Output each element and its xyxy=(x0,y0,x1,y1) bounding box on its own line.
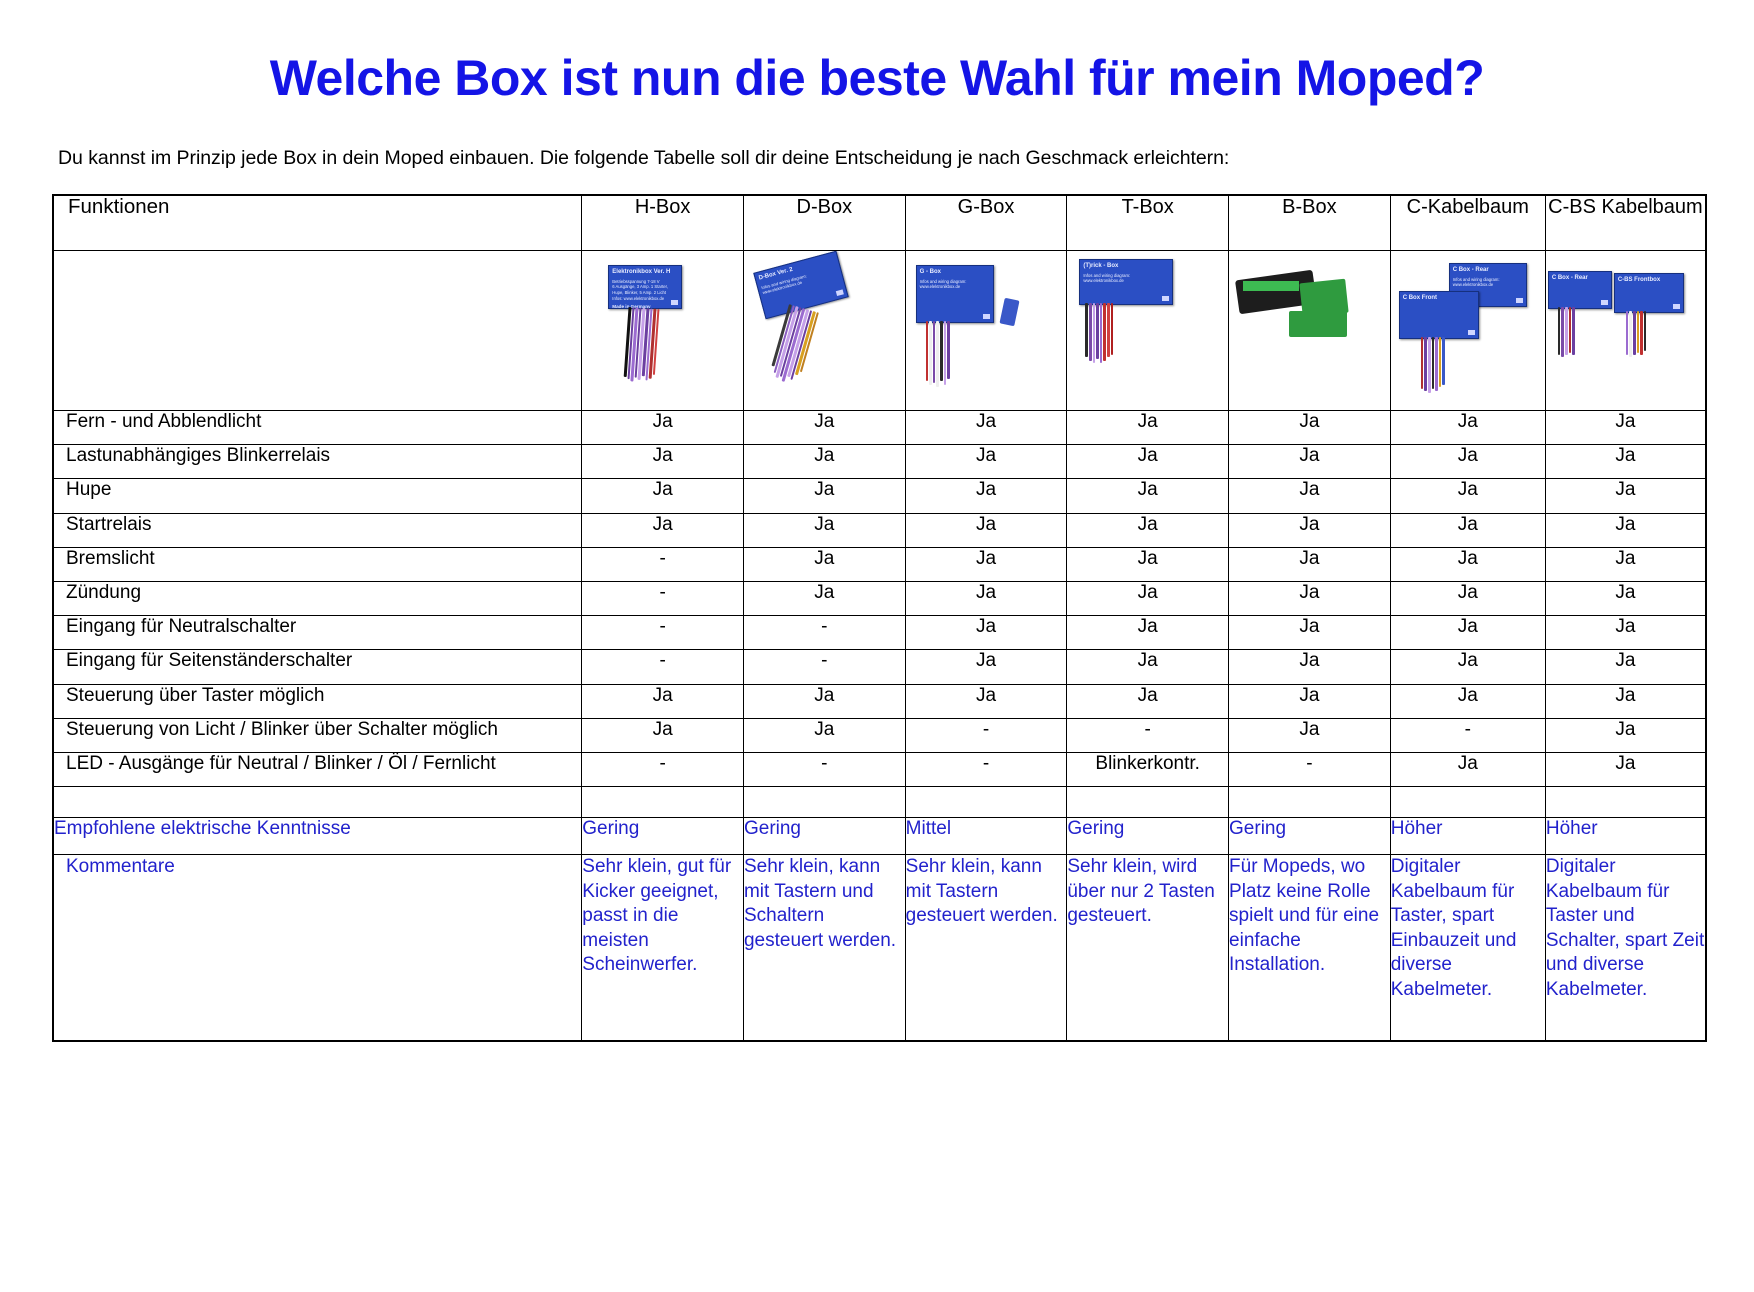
cell-value: Ja xyxy=(905,684,1067,718)
product-image-cell-b-box xyxy=(1229,251,1391,411)
table-row: Startrelais Ja Ja Ja Ja Ja Ja Ja xyxy=(53,513,1706,547)
column-header-c-kabelbaum: C-Kabelbaum xyxy=(1390,195,1545,251)
cell-value: Ja xyxy=(1067,547,1229,581)
cell-value: Ja xyxy=(1545,411,1706,445)
c-bs-front-board: C-BS Frontbox xyxy=(1614,273,1684,313)
ce-mark-icon xyxy=(983,314,990,319)
table-row: Steuerung über Taster möglich Ja Ja Ja J… xyxy=(53,684,1706,718)
h-box-photo: Elektronikbox Ver. H Betriebsspannung 7-… xyxy=(582,251,743,401)
cell-value: Ja xyxy=(1390,445,1545,479)
table-header-row: Funktionen H-Box D-Box G-Box T-Box B-Box… xyxy=(53,195,1706,251)
column-header-b-box: B-Box xyxy=(1229,195,1391,251)
cell-value: Ja xyxy=(905,650,1067,684)
c-kabelbaum-wires xyxy=(1421,337,1445,393)
spacer-cell xyxy=(1545,787,1706,818)
cell-value: Ja xyxy=(1229,513,1391,547)
cell-value: - xyxy=(1390,718,1545,752)
cell-value: Ja xyxy=(905,445,1067,479)
feature-label: Zündung xyxy=(53,581,582,615)
cell-value: Ja xyxy=(743,547,905,581)
cell-value: - xyxy=(905,752,1067,786)
t-box-board-caption: Infos and wiring diagram: www.elektronik… xyxy=(1083,273,1130,284)
table-row: Zündung - Ja Ja Ja Ja Ja Ja xyxy=(53,581,1706,615)
table-row: Lastunabhängiges Blinkerrelais Ja Ja Ja … xyxy=(53,445,1706,479)
comment-value: Sehr klein, kann mit Tastern und Schalte… xyxy=(743,855,905,1041)
table-row: Fern - und Abblendlicht Ja Ja Ja Ja Ja J… xyxy=(53,411,1706,445)
cell-value: Ja xyxy=(905,479,1067,513)
cell-value: Ja xyxy=(1545,445,1706,479)
spacer-cell xyxy=(582,787,744,818)
spacer-cell xyxy=(53,787,582,818)
cell-value: Ja xyxy=(1067,479,1229,513)
spacer-cell xyxy=(1390,787,1545,818)
b-box-terminal-strip xyxy=(1243,281,1299,291)
column-header-d-box: D-Box xyxy=(743,195,905,251)
cell-value: - xyxy=(582,752,744,786)
table-row: Steuerung von Licht / Blinker über Schal… xyxy=(53,718,1706,752)
page-title: Welche Box ist nun die beste Wahl für me… xyxy=(0,52,1754,105)
feature-label: LED - Ausgänge für Neutral / Blinker / Ö… xyxy=(53,752,582,786)
cell-value: Ja xyxy=(1390,684,1545,718)
h-box-board: Elektronikbox Ver. H Betriebsspannung 7-… xyxy=(608,265,682,309)
page-root: Welche Box ist nun die beste Wahl für me… xyxy=(0,52,1754,1292)
cell-value: Ja xyxy=(1390,616,1545,650)
spacer-cell xyxy=(905,787,1067,818)
comments-row: Kommentare Sehr klein, gut für Kicker ge… xyxy=(53,855,1706,1041)
c-bs-kabelbaum-photo: C Box - Rear C-BS Frontbox xyxy=(1546,251,1705,401)
comment-value: Sehr klein, gut für Kicker geeignet, pas… xyxy=(582,855,744,1041)
cell-value: Ja xyxy=(582,445,744,479)
ce-mark-icon xyxy=(836,289,844,296)
cell-value: Ja xyxy=(1390,479,1545,513)
cell-value: Ja xyxy=(1067,650,1229,684)
cell-value: Ja xyxy=(1229,411,1391,445)
cell-value: Ja xyxy=(743,718,905,752)
c-box-rear-label: C Box - Rear xyxy=(1453,267,1523,275)
intro-paragraph: Du kannst im Prinzip jede Box in dein Mo… xyxy=(58,147,1754,170)
cell-value: Ja xyxy=(1390,411,1545,445)
cell-value: Ja xyxy=(1229,718,1391,752)
t-box-wires xyxy=(1085,303,1113,365)
cell-value: Ja xyxy=(743,411,905,445)
spacer-cell xyxy=(1067,787,1229,818)
product-image-cell-c-bs-kabelbaum: C Box - Rear C-BS Frontbox xyxy=(1545,251,1706,411)
column-header-h-box: H-Box xyxy=(582,195,744,251)
feature-label: Fern - und Abblendlicht xyxy=(53,411,582,445)
product-image-row: Elektronikbox Ver. H Betriebsspannung 7-… xyxy=(53,251,1706,411)
cell-value: Ja xyxy=(1545,752,1706,786)
cell-value: Ja xyxy=(743,513,905,547)
cell-value: Ja xyxy=(1545,479,1706,513)
ce-mark-icon xyxy=(1162,296,1169,301)
c-box-front-label: C Box Front xyxy=(1403,295,1475,303)
product-image-cell-empty xyxy=(53,251,582,411)
cell-value: - xyxy=(743,752,905,786)
comparison-table: Funktionen H-Box D-Box G-Box T-Box B-Box… xyxy=(52,194,1707,1042)
cell-value: Ja xyxy=(1545,616,1706,650)
cell-value: Ja xyxy=(1229,479,1391,513)
ce-mark-icon xyxy=(1468,330,1475,335)
g-box-wires xyxy=(926,321,950,387)
table-row: Bremslicht - Ja Ja Ja Ja Ja Ja xyxy=(53,547,1706,581)
g-box-photo: G - Box Infos and wiring diagram: www.el… xyxy=(906,251,1067,401)
cell-value: Ja xyxy=(1390,752,1545,786)
cell-value: Ja xyxy=(1545,581,1706,615)
comment-value: Sehr klein, kann mit Tastern gesteuert w… xyxy=(905,855,1067,1041)
column-header-t-box: T-Box xyxy=(1067,195,1229,251)
skills-value: Höher xyxy=(1545,818,1706,855)
c-box-front-board: C Box Front xyxy=(1399,291,1479,339)
feature-label: Eingang für Seitenständerschalter xyxy=(53,650,582,684)
d-box-photo: D-Box Ver. 2 Infos and wiring diagram: w… xyxy=(744,251,905,401)
cell-value: Ja xyxy=(905,547,1067,581)
cell-value: Ja xyxy=(1229,684,1391,718)
skills-label: Empfohlene elektrische Kenntnisse xyxy=(53,818,582,855)
cell-value: Ja xyxy=(1067,513,1229,547)
cell-value: Ja xyxy=(743,684,905,718)
cell-value: Ja xyxy=(1229,650,1391,684)
cell-value: Ja xyxy=(1545,718,1706,752)
table-row: Eingang für Neutralschalter - - Ja Ja Ja… xyxy=(53,616,1706,650)
skills-value: Mittel xyxy=(905,818,1067,855)
product-image-cell-g-box: G - Box Infos and wiring diagram: www.el… xyxy=(905,251,1067,411)
cell-value: Ja xyxy=(1390,513,1545,547)
spacer-row xyxy=(53,787,1706,818)
cell-value: - xyxy=(1067,718,1229,752)
comment-value: Digitaler Kabelbaum für Taster und Schal… xyxy=(1545,855,1706,1041)
c-bs-rear-board: C Box - Rear xyxy=(1548,271,1612,309)
cell-value: - xyxy=(582,616,744,650)
ce-mark-icon xyxy=(1601,300,1608,305)
cell-value: - xyxy=(905,718,1067,752)
feature-label: Hupe xyxy=(53,479,582,513)
b-box-photo xyxy=(1229,251,1390,401)
feature-label: Lastunabhängiges Blinkerrelais xyxy=(53,445,582,479)
skills-value: Gering xyxy=(1067,818,1229,855)
h-box-board-label: Elektronikbox Ver. H xyxy=(612,269,678,277)
cell-value: - xyxy=(582,581,744,615)
cell-value: Ja xyxy=(1229,445,1391,479)
cell-value: Ja xyxy=(743,445,905,479)
cell-value: Ja xyxy=(1229,616,1391,650)
cell-value: - xyxy=(582,650,744,684)
spacer-cell xyxy=(1229,787,1391,818)
c-bs-wires-left xyxy=(1558,307,1575,359)
c-bs-front-label: C-BS Frontbox xyxy=(1618,277,1680,285)
skills-value: Gering xyxy=(743,818,905,855)
ce-mark-icon xyxy=(671,300,678,305)
cell-value: Ja xyxy=(582,718,744,752)
product-image-cell-t-box: (T)rick - Box Infos and wiring diagram: … xyxy=(1067,251,1229,411)
feature-label: Bremslicht xyxy=(53,547,582,581)
cell-value: Ja xyxy=(905,581,1067,615)
skills-row: Empfohlene elektrische Kenntnisse Gering… xyxy=(53,818,1706,855)
table-row: Hupe Ja Ja Ja Ja Ja Ja Ja xyxy=(53,479,1706,513)
cell-value: Ja xyxy=(582,411,744,445)
g-box-board: G - Box Infos and wiring diagram: www.el… xyxy=(916,265,994,323)
product-image-cell-d-box: D-Box Ver. 2 Infos and wiring diagram: w… xyxy=(743,251,905,411)
c-bs-rear-label: C Box - Rear xyxy=(1552,275,1608,283)
g-box-plug xyxy=(999,298,1019,327)
cell-value: Ja xyxy=(1067,411,1229,445)
cell-value: Ja xyxy=(582,684,744,718)
cell-value: Ja xyxy=(1545,684,1706,718)
column-header-funktionen: Funktionen xyxy=(53,195,582,251)
product-image-cell-h-box: Elektronikbox Ver. H Betriebsspannung 7-… xyxy=(582,251,744,411)
cell-value: Ja xyxy=(1067,684,1229,718)
cell-value: Ja xyxy=(1067,616,1229,650)
cell-value: Ja xyxy=(1545,650,1706,684)
cell-value: - xyxy=(1229,752,1391,786)
c-kabelbaum-photo: C Box - Rear Infos and wiring diagram: w… xyxy=(1391,251,1545,401)
cell-value: Ja xyxy=(1390,650,1545,684)
t-box-board-label: (T)rick - Box xyxy=(1083,263,1169,271)
comment-value: Sehr klein, wird über nur 2 Tasten geste… xyxy=(1067,855,1229,1041)
ce-mark-icon xyxy=(1673,304,1680,309)
ce-mark-icon xyxy=(1516,298,1523,303)
cell-value: Ja xyxy=(1229,547,1391,581)
cell-value: Ja xyxy=(1229,581,1391,615)
cell-value: Ja xyxy=(1067,581,1229,615)
skills-value: Gering xyxy=(582,818,744,855)
h-box-wires xyxy=(624,307,660,381)
column-header-g-box: G-Box xyxy=(905,195,1067,251)
cell-value: Ja xyxy=(582,513,744,547)
feature-label: Steuerung über Taster möglich xyxy=(53,684,582,718)
comments-label: Kommentare xyxy=(53,855,582,1041)
cell-value: - xyxy=(743,650,905,684)
cell-value: Ja xyxy=(1390,581,1545,615)
h-box-board-caption: Betriebsspannung 7-18 V 6 Ausgänge, 3 Am… xyxy=(612,279,668,301)
b-box-green-connector-2 xyxy=(1289,311,1347,337)
spacer-cell xyxy=(743,787,905,818)
t-box-board: (T)rick - Box Infos and wiring diagram: … xyxy=(1079,259,1173,305)
cell-value: Ja xyxy=(905,411,1067,445)
t-box-photo: (T)rick - Box Infos and wiring diagram: … xyxy=(1067,251,1228,401)
comment-value: Für Mopeds, wo Platz keine Rolle spielt … xyxy=(1229,855,1391,1041)
cell-value: - xyxy=(743,616,905,650)
cell-value: Ja xyxy=(743,581,905,615)
cell-value: Ja xyxy=(905,616,1067,650)
skills-value: Gering xyxy=(1229,818,1391,855)
table-row: Eingang für Seitenständerschalter - - Ja… xyxy=(53,650,1706,684)
cell-value: Blinkerkontr. xyxy=(1067,752,1229,786)
feature-label: Startrelais xyxy=(53,513,582,547)
cell-value: Ja xyxy=(582,479,744,513)
feature-label: Steuerung von Licht / Blinker über Schal… xyxy=(53,718,582,752)
comment-value: Digitaler Kabelbaum für Taster, spart Ei… xyxy=(1390,855,1545,1041)
feature-label: Eingang für Neutralschalter xyxy=(53,616,582,650)
c-box-rear-caption: Infos and wiring diagram: www.elektronik… xyxy=(1453,277,1500,288)
cell-value: Ja xyxy=(743,479,905,513)
product-image-cell-c-kabelbaum: C Box - Rear Infos and wiring diagram: w… xyxy=(1390,251,1545,411)
skills-value: Höher xyxy=(1390,818,1545,855)
cell-value: Ja xyxy=(905,513,1067,547)
cell-value: Ja xyxy=(1390,547,1545,581)
cell-value: Ja xyxy=(1545,547,1706,581)
g-box-board-caption: Infos and wiring diagram: www.elektronik… xyxy=(920,279,967,290)
c-bs-wires-right xyxy=(1626,311,1647,359)
table-row: LED - Ausgänge für Neutral / Blinker / Ö… xyxy=(53,752,1706,786)
cell-value: - xyxy=(582,547,744,581)
column-header-c-bs-kabelbaum: C-BS Kabelbaum xyxy=(1545,195,1706,251)
g-box-board-label: G - Box xyxy=(920,269,990,277)
cell-value: Ja xyxy=(1545,513,1706,547)
cell-value: Ja xyxy=(1067,445,1229,479)
